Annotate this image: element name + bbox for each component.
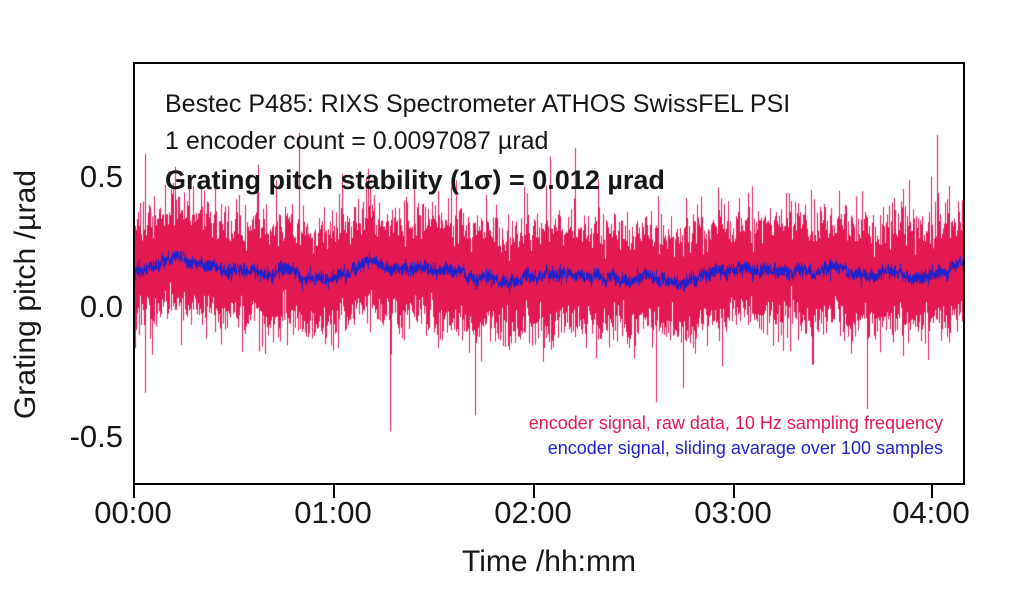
y-tick-label-1-wrap: 0.0 (8, 289, 123, 325)
y-tick-label-0-wrap: 0.5 (8, 159, 123, 195)
x-tick-label-4: 04:00 (892, 495, 970, 530)
x-tick-label-3: 03:00 (694, 495, 772, 530)
x-tick-label-2: 02:00 (494, 495, 572, 530)
chart-figure: Grating pitch /µrad 0.5 0.0 -0.5 00:00 0… (0, 0, 1024, 589)
x-tick-label-4-wrap: 04:00 (851, 495, 1011, 531)
x-tick-label-3-wrap: 03:00 (653, 495, 813, 531)
x-tick-label-2-wrap: 02:00 (453, 495, 613, 531)
x-tick-label-1-wrap: 01:00 (253, 495, 413, 531)
y-tick-label-2: -0.5 (23, 419, 123, 455)
x-tick-label-1: 01:00 (294, 495, 372, 530)
signal-traces-canvas (135, 64, 963, 483)
x-axis-title: Time /hh:mm (133, 545, 965, 579)
x-tick-label-0-wrap: 00:00 (53, 495, 213, 531)
plot-area: Bestec P485: RIXS Spectrometer ATHOS Swi… (133, 62, 965, 485)
y-tick-label-1: 0.0 (23, 289, 123, 325)
y-tick-label-2-wrap: -0.5 (8, 419, 123, 455)
x-tick-label-0: 00:00 (94, 495, 172, 530)
y-tick-label-0: 0.5 (23, 159, 123, 195)
